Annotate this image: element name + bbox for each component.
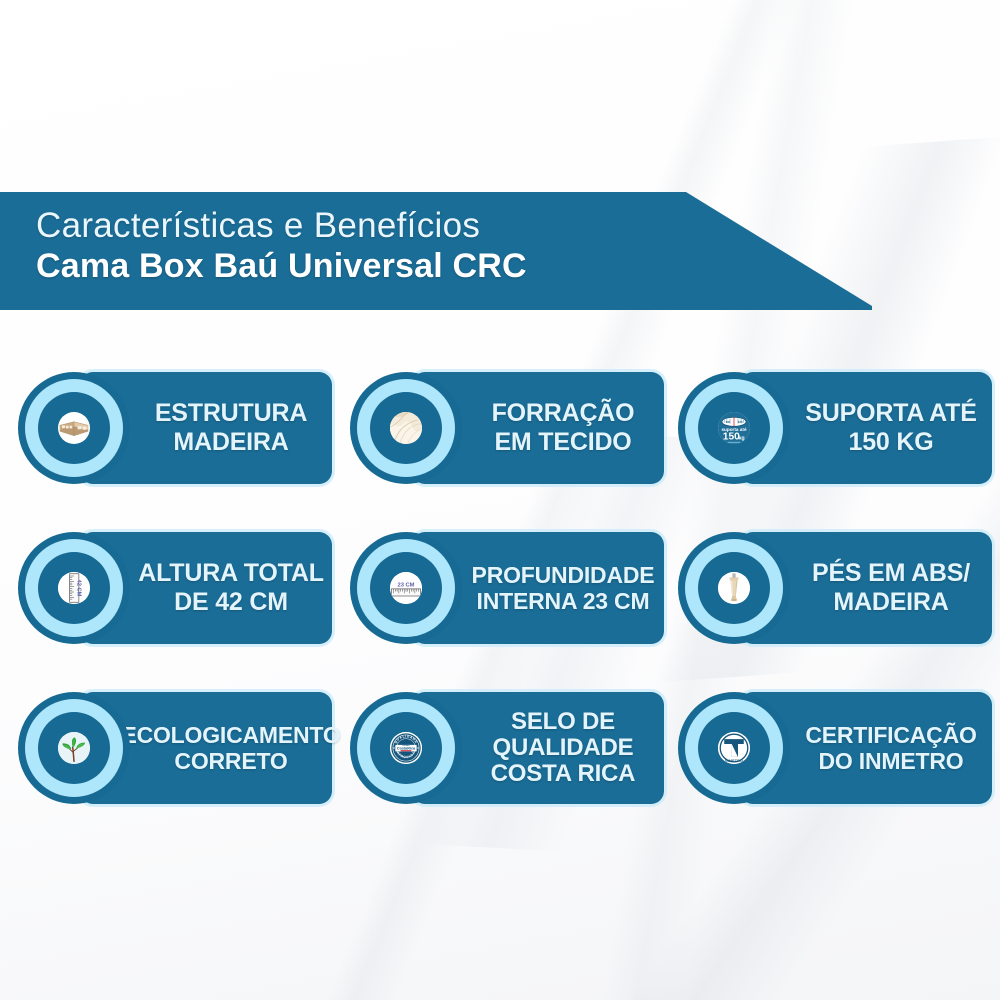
vertical-ruler-icon: 42 CM — [58, 572, 90, 604]
feature-badge-certificacao-inmetro: CERTIFICAÇÃO DO INMETRO I — [668, 680, 998, 815]
feature-grid: ESTRUTURA MADEIRA — [0, 360, 1000, 840]
horizontal-ruler-icon: 23 CM — [390, 572, 422, 604]
bed-leg-icon — [718, 572, 750, 604]
feature-label: ALTURA TOTAL DE 42 CM — [138, 559, 324, 617]
feature-label: ESTRUTURA MADEIRA — [155, 399, 307, 457]
feature-icon-circle: INMETRO — [678, 692, 790, 804]
feature-badge-altura-total: ALTURA TOTAL DE 42 CM — [8, 520, 338, 655]
feature-label: SELO DE QUALIDADE COSTA RICA — [491, 709, 636, 787]
feature-icon-circle — [18, 372, 130, 484]
feature-icon-circle — [678, 532, 790, 644]
scale-value: 150 — [723, 432, 740, 443]
seal-brand: CostaRica — [397, 747, 416, 751]
inmetro-logo-icon: INMETRO — [718, 732, 750, 764]
feature-icon-circle: 23 CM — [350, 532, 462, 644]
sapling-plant-icon — [58, 732, 90, 764]
quality-seal-icon: QUALIDADE APROVADA Colchões CostaRica — [390, 732, 422, 764]
page-title: Características e Benefícios — [36, 206, 880, 245]
scale-dial-left: 140 — [726, 420, 731, 424]
feature-badge-profundidade-interna: PROFUNDIDADE INTERNA 23 CM 23 CM — [340, 520, 670, 655]
feature-badge-estrutura-madeira: ESTRUTURA MADEIRA — [8, 360, 338, 495]
ruler-measure-label: 23 CM — [398, 583, 415, 589]
feature-icon-circle: 140 160 suporta até 150 kg — [678, 372, 790, 484]
scale-unit: kg — [738, 436, 744, 442]
feature-badge-forracao-tecido: FORRAÇÃO EM TECIDO — [340, 360, 670, 495]
product-name: Cama Box Baú Universal CRC — [36, 247, 880, 285]
feature-label: ECOLOGICAMENTO CORRETO — [121, 722, 340, 774]
feature-badge-ecologicamento-correto: ECOLOGICAMENTO CORRETO — [8, 680, 338, 815]
feature-label: PÉS EM ABS/ MADEIRA — [812, 559, 970, 617]
product-feature-infographic: Características e Benefícios Cama Box Ba… — [0, 0, 1000, 1000]
scale-dial-right: 160 — [738, 420, 743, 424]
feature-badge-pes-abs-madeira: PÉS EM ABS/ MADEIRA — [668, 520, 998, 655]
feature-icon-circle — [18, 692, 130, 804]
feature-icon-circle: QUALIDADE APROVADA Colchões CostaRica — [350, 692, 462, 804]
feature-row: ECOLOGICAMENTO CORRETO — [0, 680, 1000, 840]
feature-label: SUPORTA ATÉ 150 KG — [805, 399, 976, 457]
fabric-drape-icon — [390, 412, 422, 444]
wood-bed-frame-icon — [58, 412, 90, 444]
feature-label: CERTIFICAÇÃO DO INMETRO — [805, 722, 976, 774]
feature-label: FORRAÇÃO EM TECIDO — [492, 399, 635, 457]
feature-badge-suporta-150kg: SUPORTA ATÉ 150 KG — [668, 360, 998, 495]
ruler-measure-label: 42 CM — [76, 580, 82, 597]
feature-label: PROFUNDIDADE INTERNA 23 CM — [472, 562, 655, 614]
feature-icon-circle: 42 CM — [18, 532, 130, 644]
header-banner: Características e Benefícios Cama Box Ba… — [0, 192, 880, 310]
feature-badge-selo-qualidade: SELO DE QUALIDADE COSTA RICA — [340, 680, 670, 815]
weight-scale-icon: 140 160 suporta até 150 kg — [718, 412, 750, 444]
feature-row: ESTRUTURA MADEIRA — [0, 360, 1000, 520]
feature-row: ALTURA TOTAL DE 42 CM — [0, 520, 1000, 680]
feature-icon-circle — [350, 372, 462, 484]
inmetro-wordmark: INMETRO — [725, 759, 743, 763]
